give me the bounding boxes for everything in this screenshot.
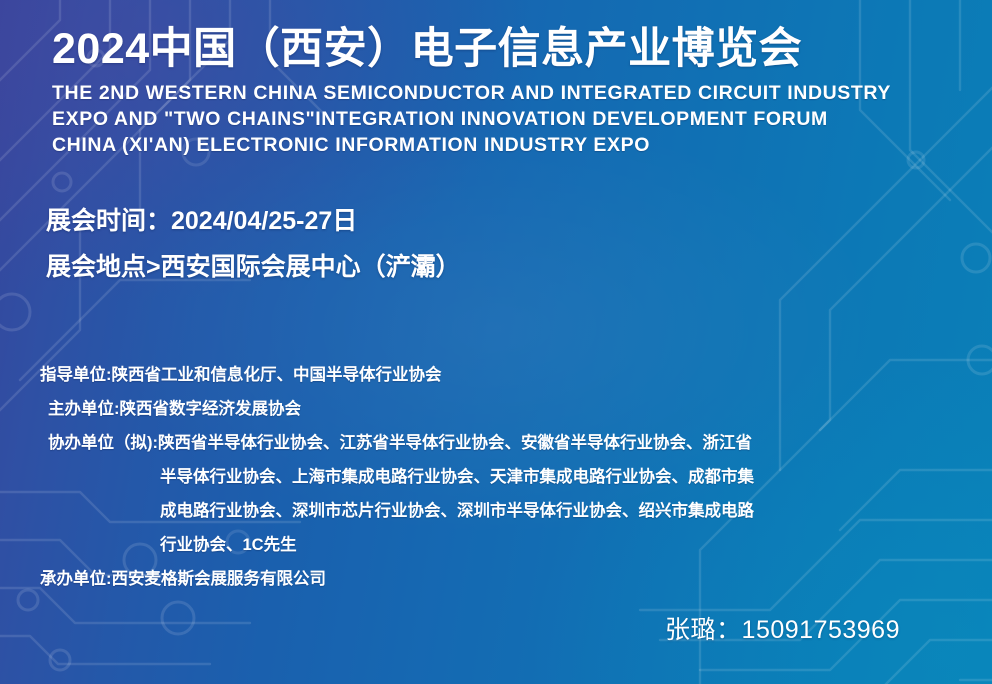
coorganizer-unit-line-4: 行业协会、1C先生	[40, 528, 940, 562]
english-subtitle-line-1: THE 2ND WESTERN CHINA SEMICONDUCTOR AND …	[52, 80, 962, 106]
event-date: 展会时间：2024/04/25-27日	[46, 198, 461, 244]
event-meta: 展会时间：2024/04/25-27日 展会地点>西安国际会展中心（浐灞）	[46, 198, 461, 290]
contact-info: 张璐：15091753969	[665, 610, 900, 646]
undertaker-unit: 承办单位:西安麦格斯会展服务有限公司	[40, 562, 940, 596]
english-subtitle-line-3: CHINA (XI'AN) ELECTRONIC INFORMATION IND…	[52, 132, 962, 158]
page-title: 2024中国（西安）电子信息产业博览会	[52, 14, 802, 76]
host-unit: 主办单位:陕西省数字经济发展协会	[40, 392, 940, 426]
guidance-unit: 指导单位:陕西省工业和信息化厅、中国半导体行业协会	[40, 358, 940, 392]
banner-content: 2024中国（西安）电子信息产业博览会 THE 2ND WESTERN CHIN…	[0, 0, 992, 684]
english-subtitle-line-2: EXPO AND "TWO CHAINS"INTEGRATION INNOVAT…	[52, 106, 962, 132]
english-subtitle: THE 2ND WESTERN CHINA SEMICONDUCTOR AND …	[52, 80, 962, 158]
event-venue: 展会地点>西安国际会展中心（浐灞）	[46, 244, 461, 290]
organizer-list: 指导单位:陕西省工业和信息化厅、中国半导体行业协会 主办单位:陕西省数字经济发展…	[40, 358, 940, 596]
expo-banner: 2024中国（西安）电子信息产业博览会 THE 2ND WESTERN CHIN…	[0, 0, 992, 684]
coorganizer-unit-line-1: 协办单位（拟):陕西省半导体行业协会、江苏省半导体行业协会、安徽省半导体行业协会…	[40, 426, 940, 460]
coorganizer-unit-line-2: 半导体行业协会、上海市集成电路行业协会、天津市集成电路行业协会、成都市集	[40, 460, 940, 494]
coorganizer-unit-line-3: 成电路行业协会、深圳市芯片行业协会、深圳市半导体行业协会、绍兴市集成电路	[40, 494, 940, 528]
